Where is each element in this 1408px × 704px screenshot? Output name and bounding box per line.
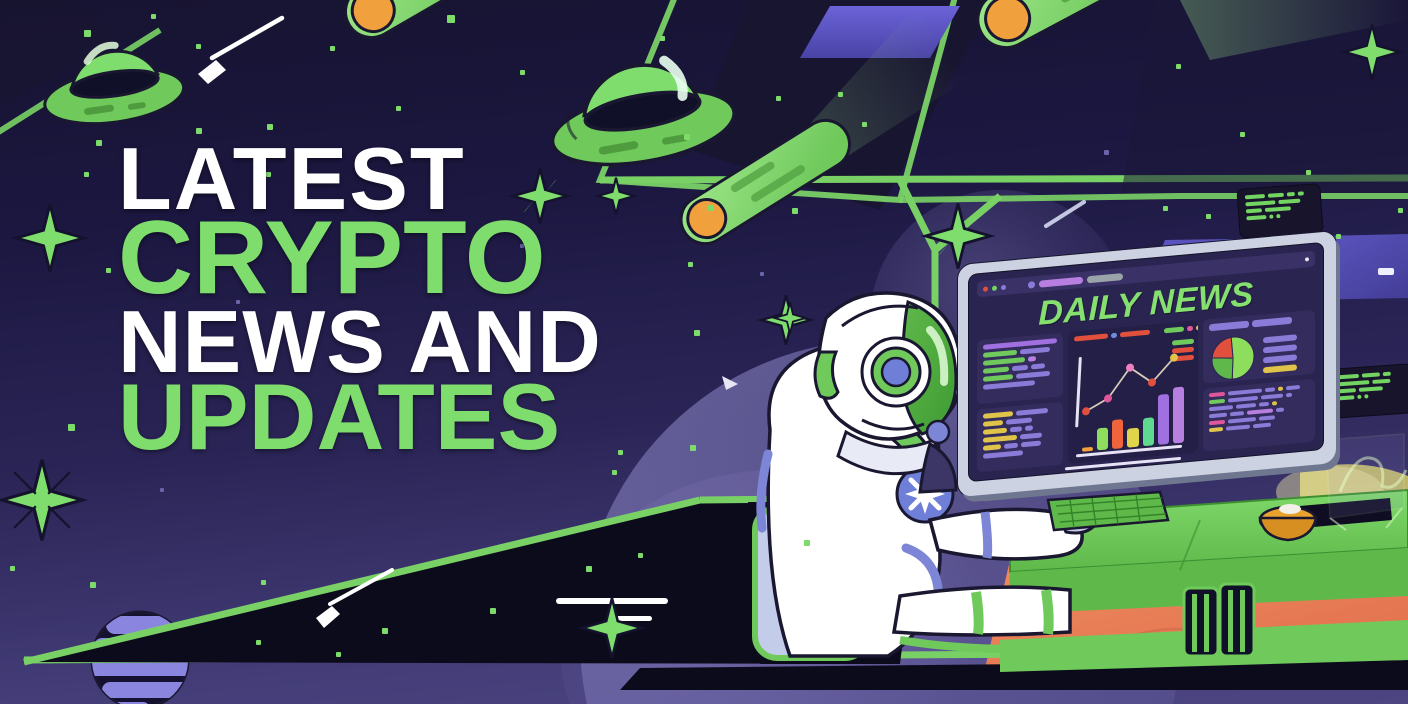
code-line-segment: [983, 444, 1001, 451]
pie-slice: [1212, 337, 1233, 360]
code-line-segment: [1004, 442, 1018, 448]
helmet: [815, 293, 961, 492]
code-line-segment: [983, 374, 1013, 382]
card-table[interactable]: [1203, 378, 1315, 452]
shooting-star-top: [198, 18, 282, 84]
code-line-segment: [1236, 402, 1256, 408]
bar: [1127, 427, 1138, 447]
chart-toolbar-bar: [1196, 324, 1198, 331]
chart-toolbar-bar: [1120, 330, 1150, 338]
sparkle-j: [774, 302, 805, 333]
terminal-segment: [1268, 193, 1284, 198]
page-title: LATEST CRYPTO NEWS AND UPDATES: [118, 140, 758, 459]
code-line-segment: [1031, 363, 1045, 369]
keyboard: [1048, 492, 1168, 530]
code-line-segment: [1228, 388, 1262, 395]
pie-chart: [1209, 332, 1257, 383]
ufo-top-left: [38, 36, 187, 132]
code-line-segment: [1028, 356, 1036, 362]
holographic-pane: [1326, 434, 1406, 530]
dashboard-center-column: [1068, 320, 1198, 464]
code-line-segment: [1209, 419, 1225, 424]
terminal-segment: [1278, 199, 1300, 205]
code-line-segment: [1025, 425, 1033, 431]
terminal-segment: [1362, 372, 1380, 377]
card-feed-top-rows: [983, 338, 1057, 390]
code-line-segment: [1259, 401, 1269, 406]
card-charts[interactable]: [1068, 320, 1198, 464]
terminal-segment: [1276, 214, 1280, 218]
chart-toolbar-bar: [1111, 333, 1117, 339]
code-line-segment: [1228, 416, 1256, 423]
card-feed-bottom[interactable]: [977, 401, 1063, 472]
code-line-segment: [1259, 415, 1275, 420]
code-line-segment: [1016, 371, 1050, 379]
card-table-rows: [1209, 384, 1309, 432]
line-point: [1148, 378, 1156, 387]
line-chart: [1078, 341, 1188, 425]
code-line-segment: [1209, 391, 1225, 396]
code-line-segment: [1286, 384, 1300, 389]
pie-legend-bar: [1263, 354, 1297, 363]
code-line-segment: [1230, 411, 1244, 416]
line-point: [1126, 363, 1134, 372]
window-dot-close[interactable]: [983, 286, 988, 291]
code-line-segment: [1209, 398, 1225, 403]
active-tab[interactable]: [1039, 276, 1083, 287]
code-line-segment: [1006, 417, 1032, 424]
code-line-segment: [1021, 440, 1041, 447]
line-point: [1170, 353, 1178, 362]
code-line-segment: [1226, 424, 1250, 430]
terminal-segment: [1245, 200, 1275, 206]
terminal-segment: [1246, 208, 1262, 213]
code-line-segment: [983, 411, 1013, 419]
code-line-segment: [1286, 392, 1292, 397]
chair: [748, 502, 884, 664]
poster-canvas: LATEST CRYPTO NEWS AND UPDATES: [0, 0, 1408, 704]
card-pie-header-bar: [1209, 321, 1249, 332]
code-line-segment: [983, 450, 1023, 459]
terminal-segment: [1359, 386, 1383, 392]
code-line-segment: [983, 366, 1009, 373]
code-line-segment: [1209, 405, 1233, 411]
code-line-segment: [1272, 401, 1277, 405]
code-line-segment: [1020, 432, 1042, 439]
terminal-segment: [1287, 192, 1295, 197]
url-bar[interactable]: [1087, 273, 1123, 283]
pie-slice: [1212, 356, 1233, 381]
pie-legend-bar: [1263, 334, 1297, 343]
shooting-star-bottom: [316, 570, 668, 628]
code-line-segment: [1265, 387, 1275, 392]
sparkle-c: [2, 460, 83, 541]
code-line-segment: [983, 350, 1017, 358]
code-line-segment: [1209, 412, 1227, 418]
window-dot-minimize[interactable]: [992, 285, 997, 290]
card-pie[interactable]: [1203, 310, 1315, 384]
pie-side-bars: [1263, 333, 1309, 373]
terminal-segment: [1265, 206, 1291, 212]
terminal-bottom-rows: [1337, 371, 1407, 401]
code-line-segment: [1278, 386, 1283, 390]
terminal-segment: [1338, 395, 1354, 400]
menu-indicator[interactable]: [1305, 257, 1309, 261]
terminal-line: [1246, 212, 1314, 221]
terminal-segment: [1298, 191, 1304, 195]
code-line-segment: [983, 380, 1035, 390]
card-pie-header-bar: [1252, 317, 1292, 328]
terminal-top[interactable]: [1236, 183, 1323, 239]
line-point: [1104, 394, 1112, 403]
terminal-segment: [1337, 380, 1369, 386]
code-line-segment: [1209, 426, 1223, 431]
sparkle-h: [582, 598, 642, 658]
sparkle-b: [16, 204, 84, 272]
code-line-segment: [983, 434, 1017, 442]
terminal-bottom[interactable]: [1328, 363, 1408, 419]
chart-toolbar-left: [1074, 330, 1150, 342]
bar: [1097, 428, 1108, 451]
headline-line-4: UPDATES: [118, 376, 758, 459]
pie-legend-bar: [1263, 364, 1297, 373]
nebula-glow-bottom: [560, 470, 990, 704]
dashboard-right-column: [1203, 310, 1315, 452]
chart-toolbar-bar: [1074, 333, 1108, 341]
terminal-line: [1338, 392, 1406, 401]
terminal-top-rows: [1245, 191, 1315, 221]
code-line-segment: [1016, 407, 1048, 415]
sparkle-f: [1345, 25, 1400, 80]
code-line-segment: [1012, 365, 1028, 371]
canisters: [1184, 584, 1254, 656]
comet-upper-left: [311, 0, 648, 47]
shooting-star-right: [1046, 202, 1084, 226]
tab-favicon: [1028, 281, 1035, 289]
code-line-segment: [1228, 395, 1258, 402]
chart-toolbar-bar: [1187, 326, 1193, 332]
code-line-segment: [1010, 426, 1022, 432]
pie-slice: [1231, 335, 1254, 379]
sparkle-d: [761, 295, 810, 344]
terminal-segment: [1269, 214, 1273, 218]
terminal-segment: [1246, 215, 1266, 220]
code-line-segment: [1276, 407, 1284, 412]
card-feed-bottom-rows: [983, 407, 1057, 459]
main-monitor[interactable]: DAILY NEWS: [958, 248, 1336, 480]
code-line-segment: [1020, 347, 1050, 355]
bar: [1082, 447, 1093, 452]
card-feed-top[interactable]: [977, 333, 1063, 404]
chart-toolbar-right: [1164, 324, 1198, 334]
code-line-segment: [1261, 393, 1283, 399]
code-line-segment: [1247, 408, 1273, 414]
chart-toolbar-bar: [1164, 327, 1184, 334]
bar: [1143, 417, 1154, 446]
bar: [1112, 419, 1123, 449]
comet-top-right: [968, 0, 1408, 60]
terminal-segment: [1338, 388, 1356, 393]
code-line-segment: [983, 420, 1003, 427]
coffee-mug: [1260, 504, 1316, 540]
line-point: [1082, 407, 1090, 416]
terminal-segment: [1364, 394, 1368, 398]
terminal-segment: [1245, 194, 1265, 199]
code-line-segment: [983, 427, 1007, 434]
terminal-segment: [1383, 372, 1391, 377]
pie-legend-bar: [1263, 344, 1297, 353]
terminal-segment: [1372, 379, 1390, 384]
planet-striped: [86, 612, 198, 704]
monitor-screen: DAILY NEWS: [968, 242, 1324, 482]
window-dot-maximize[interactable]: [1001, 284, 1006, 289]
terminal-segment: [1357, 395, 1361, 399]
dashboard-left-column: [977, 333, 1063, 473]
code-line-segment: [1253, 422, 1271, 428]
terminal-segment: [1337, 374, 1359, 380]
